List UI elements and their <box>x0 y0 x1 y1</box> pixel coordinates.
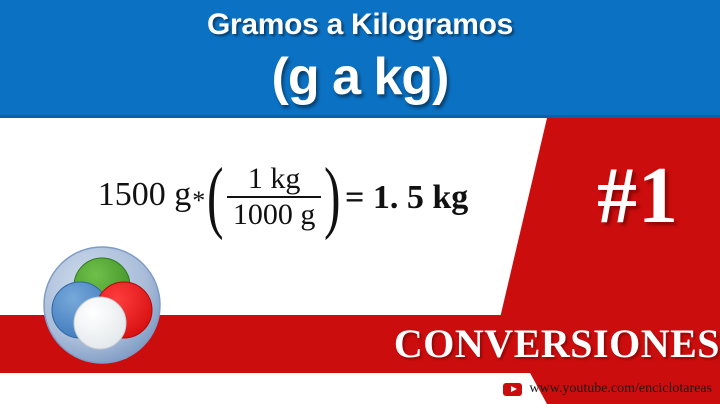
page-subtitle: (g a kg) <box>0 44 720 110</box>
video-thumbnail: Gramos a Kilogramos (g a kg) 1500 g* ( 1… <box>0 0 720 404</box>
formula-fraction: 1 kg 1000 g <box>227 162 322 232</box>
fraction-numerator: 1 kg <box>242 162 307 196</box>
formula-quantity-value: 1500 g <box>98 176 192 213</box>
enciclotareas-logo <box>41 244 163 366</box>
formula-quantity: 1500 g* <box>98 176 206 220</box>
formula-operator: * <box>192 186 205 215</box>
youtube-play-icon <box>503 383 522 396</box>
play-triangle-icon <box>511 386 517 392</box>
formula-close-paren: ) <box>324 169 341 225</box>
formula-open-paren: ( <box>207 169 224 225</box>
brand-wordmark: CONVERSIONES <box>394 320 720 368</box>
issue-number-badge: #1 <box>556 148 720 244</box>
channel-url-row[interactable]: www.youtube.com/enciclotareas <box>503 380 712 398</box>
logo-circles-icon <box>41 244 163 366</box>
channel-url-text[interactable]: www.youtube.com/enciclotareas <box>529 380 712 398</box>
header-band: Gramos a Kilogramos (g a kg) <box>0 0 720 118</box>
conversion-formula: 1500 g* ( 1 kg 1000 g ) = 1. 5 kg <box>58 156 508 240</box>
page-title: Gramos a Kilogramos <box>0 6 720 44</box>
fraction-denominator: 1000 g <box>227 198 322 232</box>
formula-result: = 1. 5 kg <box>345 179 468 217</box>
